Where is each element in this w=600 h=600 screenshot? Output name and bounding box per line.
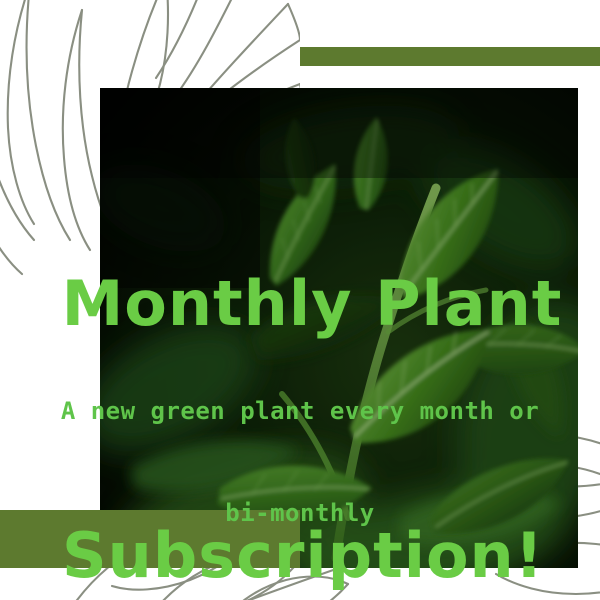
poster-canvas: Monthly Plant Subscription! A new green … (0, 0, 600, 600)
body-line-2: bi-monthly (0, 496, 600, 530)
olive-accent-bar-top (300, 47, 600, 66)
body-line-1: A new green plant every month or (0, 394, 600, 428)
body-copy: A new green plant every month or bi-mont… (0, 326, 600, 600)
